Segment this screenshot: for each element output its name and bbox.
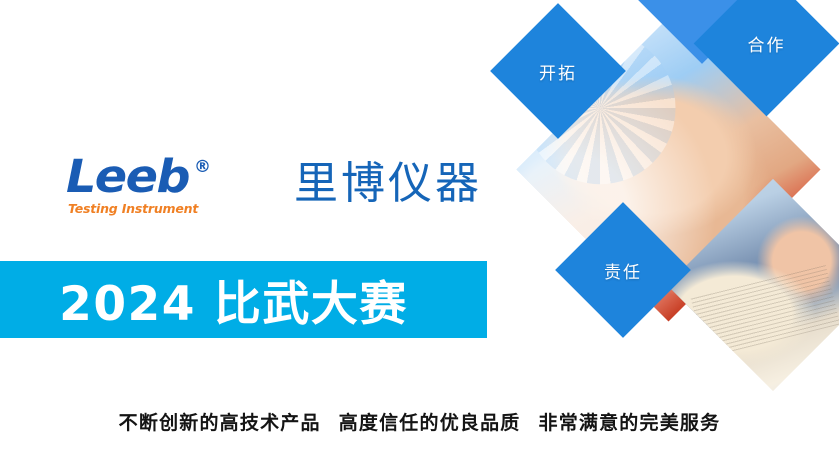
diamond-collage: 开拓 合作 责任	[466, 0, 839, 400]
value-diamond-kaituo-label: 开拓	[510, 23, 606, 119]
value-diamond-hezuo-label: 合作	[715, 0, 818, 95]
value-diamond-zeren-label: 责任	[575, 222, 671, 318]
leeb-wordmark: Leeb	[66, 154, 189, 199]
leeb-logo-tagline: Testing Instrument	[68, 203, 198, 216]
slogan-segment-1: 不断创新的高技术产品	[119, 412, 321, 434]
registered-trademark-icon: ®	[194, 159, 211, 176]
company-slogan: 不断创新的高技术产品高度信任的优良品质非常满意的完美服务	[0, 408, 839, 435]
slogan-segment-3: 非常满意的完美服务	[539, 412, 721, 434]
slogan-segment-2: 高度信任的优良品质	[339, 412, 521, 434]
leeb-logo: Leeb ® Testing Instrument	[66, 158, 218, 224]
company-name-cn: 里博仪器	[294, 156, 482, 211]
headline-banner: 2024 比武大赛	[0, 261, 487, 338]
brand-block: Leeb ® Testing Instrument 里博仪器	[66, 158, 466, 228]
promotional-poster: 开拓 合作 责任 Leeb ® Testing Instrument 里博仪器 …	[0, 0, 839, 469]
headline-title: 2024 比武大赛	[0, 261, 487, 338]
